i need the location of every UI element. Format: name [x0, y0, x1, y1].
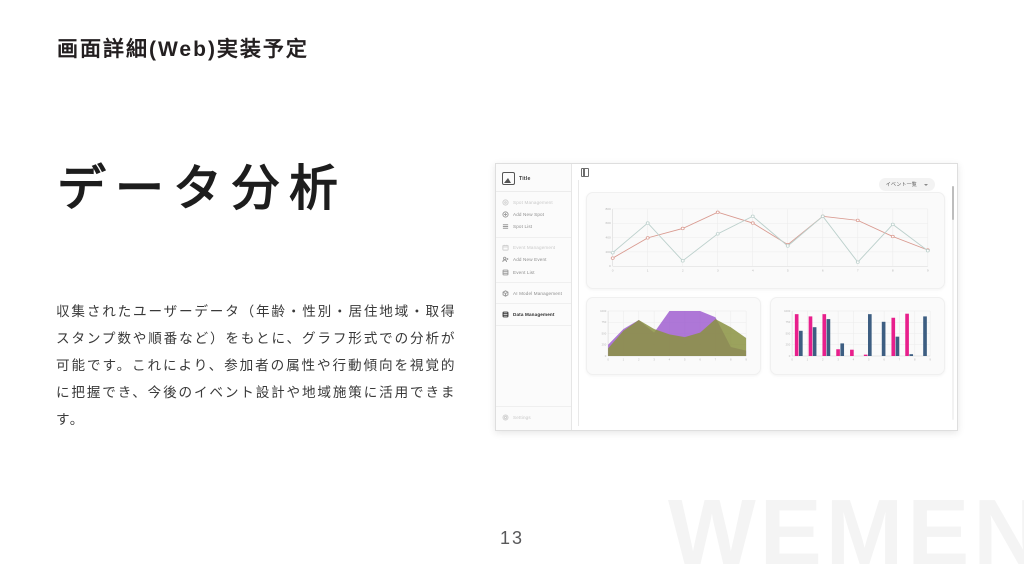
svg-text:2: 2 — [822, 358, 824, 362]
svg-text:8: 8 — [730, 358, 732, 362]
sidebar-item-add-new-event[interactable]: Add New Event — [496, 254, 571, 266]
svg-text:600: 600 — [605, 221, 611, 225]
nav-group-spot: Spot Management Add New Spot Spot List — [496, 192, 571, 238]
sidebar-spacer — [496, 326, 571, 406]
sidebar-item-add-new-spot[interactable]: Add New Spot — [496, 208, 571, 220]
svg-text:9: 9 — [745, 358, 747, 362]
list-icon — [502, 223, 509, 230]
svg-text:7: 7 — [899, 358, 901, 362]
svg-text:6: 6 — [883, 358, 885, 362]
calendar-icon — [502, 244, 509, 251]
svg-text:200: 200 — [605, 250, 611, 254]
svg-text:5: 5 — [787, 269, 789, 273]
location-pin-icon — [502, 199, 509, 206]
dashboard-sidebar: Title Spot Management Add New Spot Spot … — [496, 164, 572, 430]
brand-name: Title — [519, 176, 531, 182]
svg-text:3: 3 — [837, 358, 839, 362]
nav-group-settings: Settings — [496, 406, 571, 430]
user-plus-icon — [502, 256, 509, 263]
dashboard-main: イベント一覧 02004006008000123456789 025050075… — [572, 164, 957, 430]
svg-text:5: 5 — [868, 358, 870, 362]
sidebar-item-label: Add New Event — [513, 257, 547, 262]
image-placeholder-icon — [502, 172, 515, 185]
svg-text:4: 4 — [752, 269, 754, 273]
nav-group-ai: AI Model Management — [496, 283, 571, 304]
svg-text:0: 0 — [609, 264, 611, 268]
sidebar-item-label: Spot List — [513, 224, 532, 229]
sidebar-item-event-management[interactable]: Event Management — [496, 242, 571, 254]
svg-text:0: 0 — [607, 358, 609, 362]
content-divider — [578, 180, 579, 426]
sidebar-item-spot-management[interactable]: Spot Management — [496, 196, 571, 208]
area-chart: 025050075010000123456789 — [592, 304, 753, 370]
database-icon — [502, 311, 509, 318]
line-chart: 02004006008000123456789 — [592, 199, 937, 284]
sidebar-item-label: AI Model Management — [513, 291, 562, 296]
sidebar-item-label: Data Management — [513, 312, 555, 317]
sidebar-item-label: Event Management — [513, 245, 555, 250]
bar-chart-card: 025050075010000123456789 — [770, 297, 945, 375]
line-chart-card: 02004006008000123456789 — [586, 192, 945, 289]
svg-text:9: 9 — [929, 358, 931, 362]
svg-text:750: 750 — [786, 320, 791, 324]
bottom-chart-row: 025050075010000123456789 025050075010000… — [586, 297, 945, 375]
gear-icon — [502, 414, 509, 421]
sidebar-item-spot-list[interactable]: Spot List — [496, 220, 571, 232]
svg-text:9: 9 — [927, 269, 929, 273]
event-list-dropdown[interactable]: イベント一覧 — [879, 178, 935, 191]
svg-text:8: 8 — [892, 269, 894, 273]
sidebar-item-label: Event List — [513, 270, 535, 275]
list-grid-icon — [502, 269, 509, 276]
sidebar-item-label: Settings — [513, 415, 531, 420]
svg-text:1: 1 — [647, 269, 649, 273]
svg-text:3: 3 — [653, 358, 655, 362]
event-list-dropdown-value: イベント一覧 — [886, 181, 917, 188]
scrollbar[interactable] — [952, 186, 954, 420]
svg-text:7: 7 — [857, 269, 859, 273]
section-heading: データ分析 — [57, 163, 347, 217]
svg-text:500: 500 — [786, 332, 791, 336]
svg-text:0: 0 — [612, 269, 614, 273]
nav-group-event: Event Management Add New Event Event Lis… — [496, 238, 571, 284]
svg-text:1000: 1000 — [784, 309, 791, 313]
page-title: 画面詳細(Web)実装予定 — [57, 33, 309, 63]
svg-text:6: 6 — [699, 358, 701, 362]
section-description: 収集されたユーザーデータ（年齢・性別・居住地域・取得スタンプ数や順番など）をもと… — [56, 298, 456, 434]
chevron-down-icon — [924, 184, 928, 186]
svg-text:5: 5 — [684, 358, 686, 362]
svg-text:1000: 1000 — [600, 309, 607, 313]
dashboard-topbar: イベント一覧 — [580, 164, 945, 192]
svg-text:500: 500 — [602, 332, 607, 336]
svg-text:250: 250 — [602, 343, 607, 347]
panel-toggle-icon[interactable] — [581, 168, 589, 177]
sidebar-item-ai-model-management[interactable]: AI Model Management — [496, 287, 571, 299]
sidebar-item-settings[interactable]: Settings — [496, 412, 571, 424]
svg-text:3: 3 — [717, 269, 719, 273]
svg-text:8: 8 — [914, 358, 916, 362]
svg-text:0: 0 — [789, 354, 791, 358]
svg-text:2: 2 — [682, 269, 684, 273]
svg-text:7: 7 — [715, 358, 717, 362]
svg-text:0: 0 — [791, 358, 793, 362]
svg-text:4: 4 — [853, 358, 855, 362]
dashboard-mockup: Title Spot Management Add New Spot Spot … — [495, 163, 958, 431]
area-chart-card: 025050075010000123456789 — [586, 297, 761, 375]
svg-text:1: 1 — [807, 358, 809, 362]
watermark: WEMEN — [668, 486, 1024, 579]
svg-text:4: 4 — [669, 358, 671, 362]
bar-chart: 025050075010000123456789 — [776, 304, 937, 370]
svg-text:750: 750 — [602, 320, 607, 324]
svg-text:2: 2 — [638, 358, 640, 362]
sidebar-item-label: Add New Spot — [513, 212, 544, 217]
svg-text:1: 1 — [623, 358, 625, 362]
svg-text:250: 250 — [786, 343, 791, 347]
brand[interactable]: Title — [496, 169, 571, 192]
svg-text:400: 400 — [605, 236, 611, 240]
svg-text:800: 800 — [605, 207, 611, 211]
svg-text:0: 0 — [605, 354, 607, 358]
nav-group-data: Data Management — [496, 304, 571, 325]
sidebar-item-data-management[interactable]: Data Management — [496, 308, 571, 320]
cube-icon — [502, 290, 509, 297]
scrollbar-thumb[interactable] — [952, 186, 954, 220]
svg-text:6: 6 — [822, 269, 824, 273]
sidebar-item-event-list[interactable]: Event List — [496, 266, 571, 278]
sidebar-item-label: Spot Management — [513, 200, 553, 205]
plus-circle-icon — [502, 211, 509, 218]
